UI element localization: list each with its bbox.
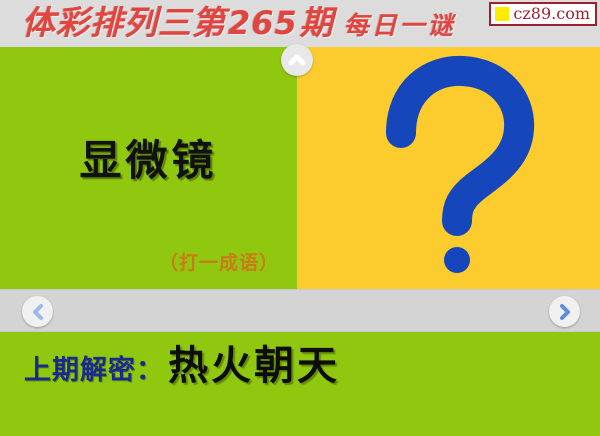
page-title: 体彩排列三第265期每日一谜 [22,2,456,47]
previous-answer-label: 上期解密： [24,355,164,386]
collapse-button[interactable] [281,44,313,76]
chevron-right-icon [556,303,574,321]
watermark: cz89.com [489,2,597,26]
header-bar: 体彩排列三第265期每日一谜 cz89.com [0,0,600,47]
page-title-issue-number: 265 [226,4,300,42]
page-title-subtitle: 每日一谜 [334,11,456,40]
riddle-widget: 体彩排列三第265期每日一谜 cz89.com 显微镜 （打一成语） [0,0,600,436]
previous-button[interactable] [22,296,53,327]
riddle-hint-text: （打一成语） [159,248,279,275]
riddle-clue-text: 显微镜 [0,127,297,188]
question-mark-icon [297,47,600,289]
previous-answer-line: 上期解密：热火朝天 [24,342,340,398]
previous-answer-value: 热火朝天 [164,343,340,389]
chevron-up-icon [287,50,307,70]
riddle-panel-left: 显微镜 （打一成语） [0,47,297,289]
riddle-panels: 显微镜 （打一成语） [0,47,600,289]
next-button[interactable] [549,296,580,327]
previous-answer-section: 上期解密：热火朝天 [0,332,600,436]
page-title-issue-suffix: 期 [300,3,334,42]
page-title-main: 体彩排列三第 [22,3,226,42]
watermark-text: cz89.com [513,6,590,22]
navigation-bar [0,289,600,332]
yellow-square-icon [495,7,509,21]
riddle-panel-right [297,47,600,289]
chevron-left-icon [29,303,47,321]
